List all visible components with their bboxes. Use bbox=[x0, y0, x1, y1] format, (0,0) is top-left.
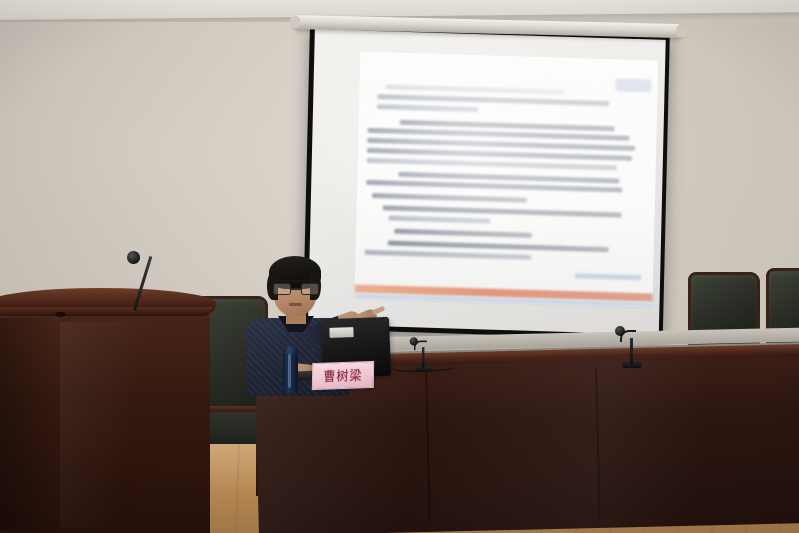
slide-corner-badge bbox=[616, 79, 652, 92]
slide-text-line-11 bbox=[371, 193, 526, 203]
lecture-photo-scene: 曹树梁 Conference room lecture photograph O… bbox=[0, 0, 799, 533]
housing-cap-left bbox=[290, 16, 300, 28]
nameplate-text: 曹树梁 bbox=[323, 365, 362, 385]
glasses-icon bbox=[273, 283, 319, 295]
podium-lip bbox=[0, 307, 212, 316]
glasses-bridge bbox=[291, 288, 301, 290]
projected-slide bbox=[354, 51, 658, 308]
slide-text-line-8 bbox=[366, 158, 617, 171]
podium-cable-hole bbox=[55, 312, 66, 317]
slide-blue-bar bbox=[576, 273, 642, 280]
slide-text-line-15 bbox=[388, 240, 609, 252]
slide-text-line-2 bbox=[377, 94, 610, 106]
slide-text-line-3 bbox=[377, 104, 478, 112]
presenter-brow bbox=[277, 280, 315, 282]
thermos-highlight bbox=[288, 354, 291, 388]
laptop-label bbox=[329, 327, 353, 338]
microphone-head bbox=[410, 337, 418, 345]
slide-text-line-10 bbox=[366, 180, 623, 193]
slide-text-line-13 bbox=[389, 216, 490, 224]
slide-text-line-1 bbox=[386, 84, 565, 94]
presenter-mouth bbox=[289, 303, 302, 306]
slide-text-line-16 bbox=[364, 250, 531, 260]
slide-text-line-4 bbox=[400, 119, 615, 131]
thermos-cap bbox=[283, 347, 298, 354]
conference-microphone-2 bbox=[630, 324, 652, 364]
glasses-lens-left bbox=[273, 283, 291, 295]
podium-side-facet bbox=[0, 318, 58, 530]
nameplate: 曹树梁 bbox=[312, 361, 374, 390]
podium-front-panel bbox=[60, 322, 192, 528]
glasses-lens-right bbox=[301, 283, 319, 295]
microphone-head bbox=[615, 326, 625, 336]
podium-microphone-head bbox=[127, 251, 140, 264]
slide-text-line-14 bbox=[395, 228, 532, 237]
housing-cap-right bbox=[676, 25, 686, 37]
